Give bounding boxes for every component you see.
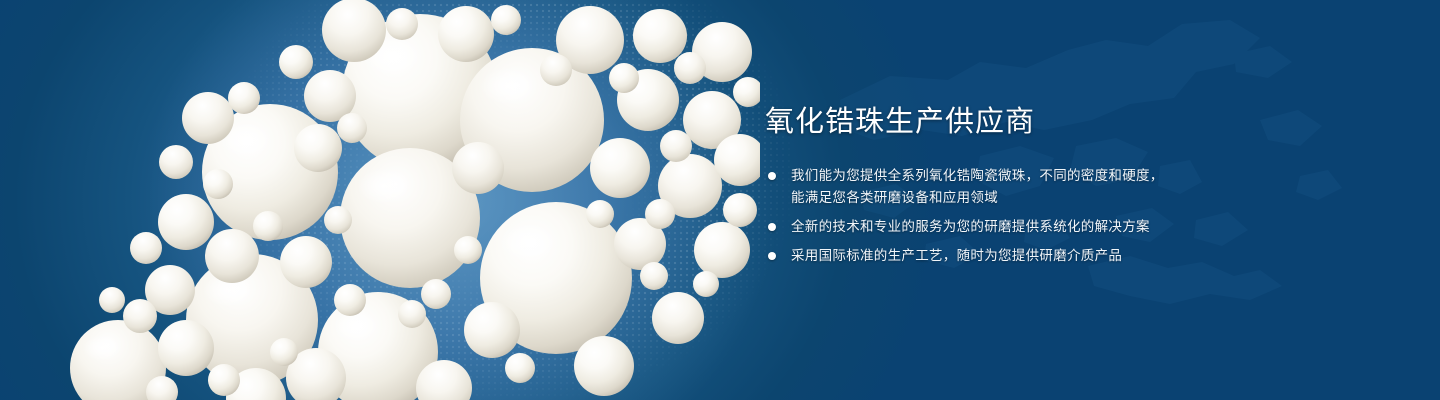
bullet-dot-icon <box>768 172 776 180</box>
feature-item: 采用国际标准的生产工艺，随时为您提供研磨介质产品 <box>765 245 1385 267</box>
feature-line-1: 我们能为您提供全系列氧化锆陶瓷微珠，不同的密度和硬度， <box>791 168 1164 183</box>
banner-title: 氧化锆珠生产供应商 <box>765 108 1385 137</box>
feature-line-2: 能满足您各类研磨设备和应用领域 <box>791 187 1385 209</box>
banner-copy: 氧化锆珠生产供应商 我们能为您提供全系列氧化锆陶瓷微珠，不同的密度和硬度， 能满… <box>765 108 1385 274</box>
feature-item: 我们能为您提供全系列氧化锆陶瓷微珠，不同的密度和硬度， 能满足您各类研磨设备和应… <box>765 165 1385 209</box>
feature-line-1: 全新的技术和专业的服务为您的研磨提供系统化的解决方案 <box>791 219 1150 234</box>
zirconia-beads-image <box>0 0 760 400</box>
banner-feature-list: 我们能为您提供全系列氧化锆陶瓷微珠，不同的密度和硬度， 能满足您各类研磨设备和应… <box>765 165 1385 267</box>
hero-banner: 氧化锆珠生产供应商 我们能为您提供全系列氧化锆陶瓷微珠，不同的密度和硬度， 能满… <box>0 0 1440 400</box>
feature-item: 全新的技术和专业的服务为您的研磨提供系统化的解决方案 <box>765 216 1385 238</box>
feature-line-1: 采用国际标准的生产工艺，随时为您提供研磨介质产品 <box>791 248 1122 263</box>
bullet-dot-icon <box>768 223 776 231</box>
bullet-dot-icon <box>768 252 776 260</box>
